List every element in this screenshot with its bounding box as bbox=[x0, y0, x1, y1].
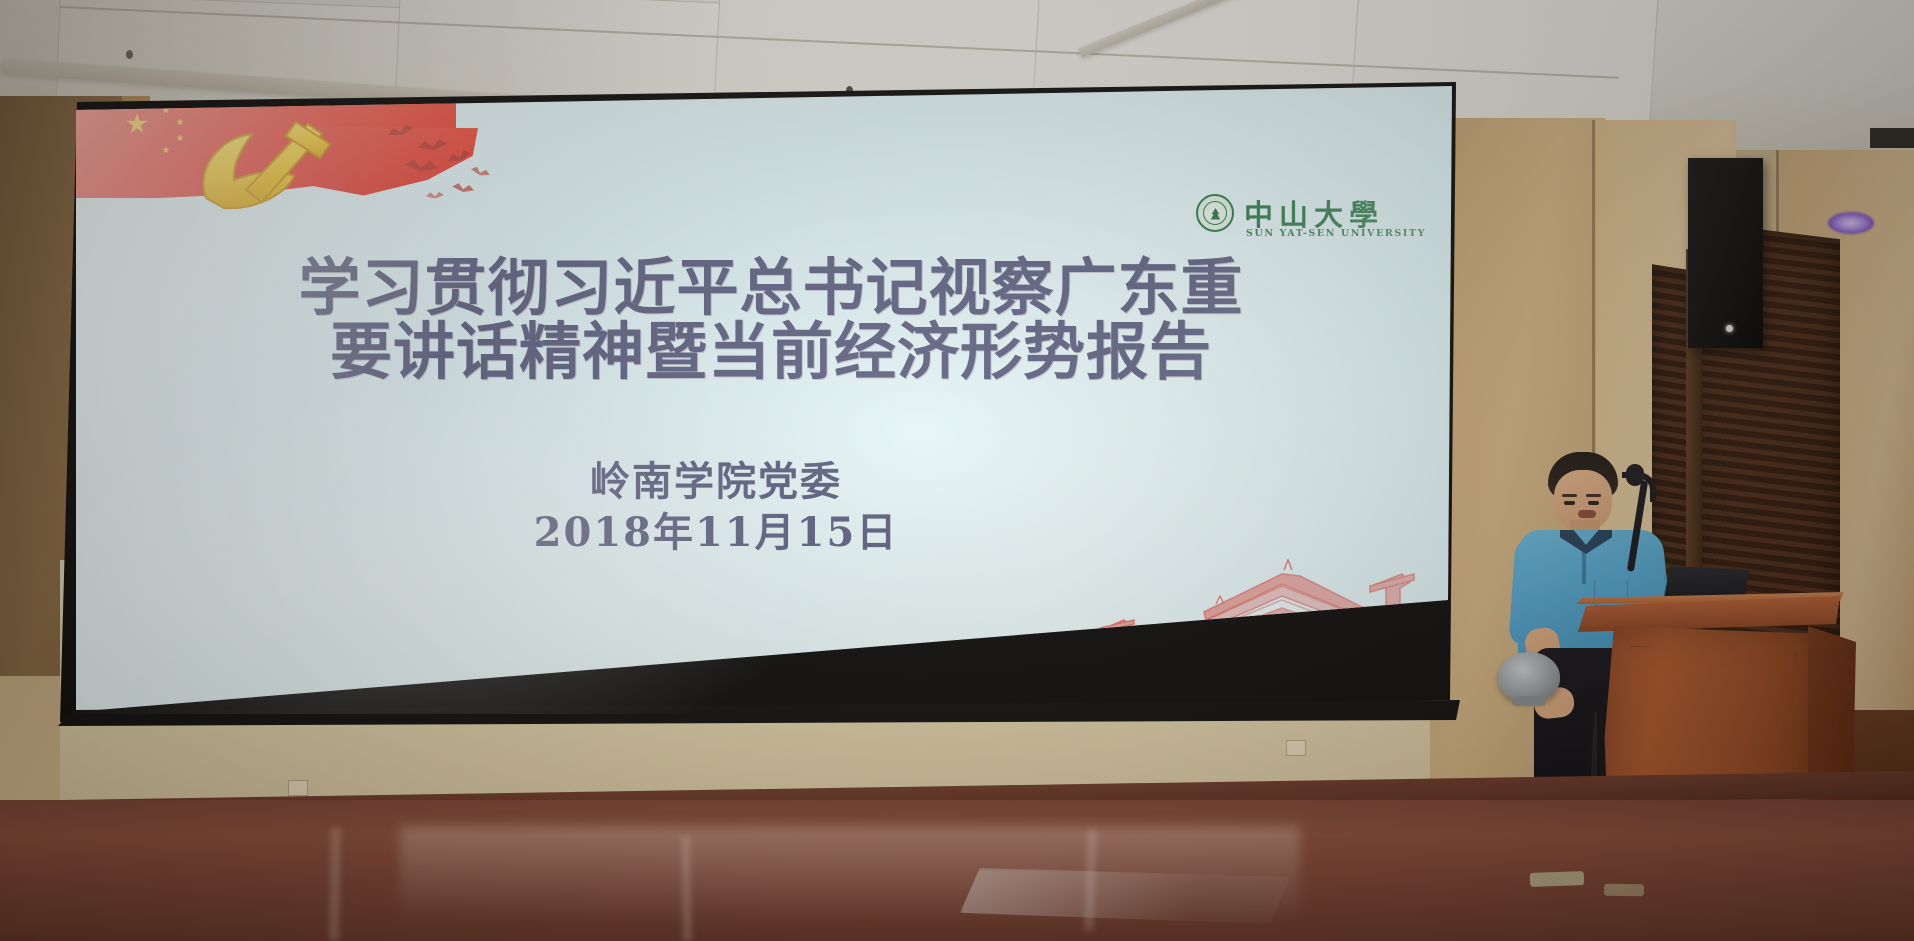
slide-title: 学习贯彻习近平总书记视察广东重 要讲话精神暨当前经济形势报告 bbox=[186, 256, 1356, 385]
slide-title-line-1: 学习贯彻习近平总书记视察广东重 bbox=[186, 256, 1356, 320]
eyebrow bbox=[1562, 494, 1577, 497]
floor-light-streak bbox=[681, 836, 692, 941]
floor-fan[interactable] bbox=[1498, 652, 1560, 702]
lecture-hall-photo: 中山大學 SUN YAT-SEN UNIVERSITY 学习贯彻习近平总书记视察… bbox=[0, 0, 1914, 941]
electrical-outlet[interactable] bbox=[288, 780, 308, 796]
sysu-seal-icon bbox=[1196, 194, 1234, 232]
hammer-and-sickle-icon bbox=[190, 120, 370, 215]
sysu-logo: 中山大學 SUN YAT-SEN UNIVERSITY bbox=[1196, 192, 1374, 244]
electrical-outlet[interactable] bbox=[1286, 740, 1306, 756]
university-name-en: SUN YAT-SEN UNIVERSITY bbox=[1246, 228, 1426, 239]
presenter-mouth bbox=[1578, 510, 1596, 518]
eye bbox=[1588, 501, 1599, 505]
eye bbox=[1564, 501, 1575, 505]
slide-title-line-2: 要讲话精神暨当前经济形势报告 bbox=[186, 320, 1356, 384]
microphone-capsule-icon bbox=[1626, 464, 1644, 486]
floor-fan-base bbox=[1512, 696, 1546, 706]
shirt-placket bbox=[1582, 548, 1586, 584]
eyebrow bbox=[1586, 494, 1601, 497]
floor-light-streak bbox=[329, 828, 341, 941]
floor-object bbox=[1604, 884, 1644, 897]
floor-object bbox=[1530, 871, 1584, 887]
slide-subtitle-org: 岭南学院党委 bbox=[186, 456, 1246, 507]
slide-subtitle: 岭南学院党委 2018年11月15日 bbox=[186, 456, 1246, 558]
